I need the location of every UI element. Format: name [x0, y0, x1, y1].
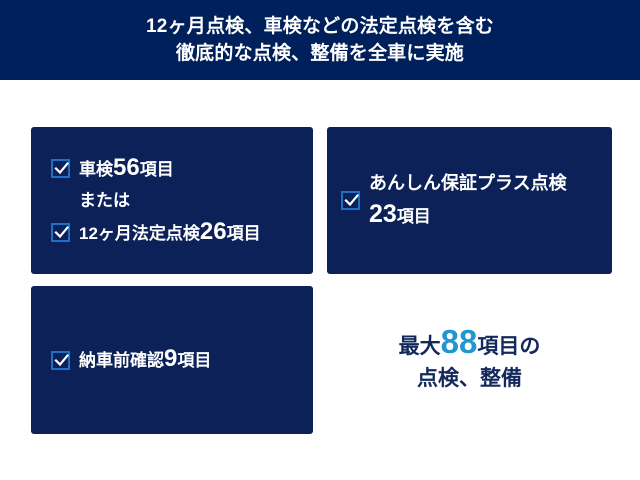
warranty-number: 23 [369, 200, 397, 228]
header-line-2: 徹底的な点検、整備を全車に実施 [176, 40, 464, 67]
card-inspection: 車検56項目 または 12ヶ月法定点検26項目 [31, 127, 313, 274]
header-line-1: 12ヶ月点検、車検などの法定点検を含む [146, 13, 494, 40]
inspection-line-1-suffix: 項目 [140, 160, 174, 179]
inspection-line-2: または [51, 185, 313, 217]
inspection-line-1-number: 56 [113, 154, 140, 181]
checkbox-checked-icon [51, 223, 70, 242]
inspection-line-3-prefix: 12ヶ月法定点検 [79, 224, 200, 243]
card-inspection-content: 車検56項目 または 12ヶ月法定点検26項目 [31, 127, 313, 274]
summary-mid: 項目 [477, 335, 519, 358]
checkbox-checked-icon [51, 351, 70, 370]
predelivery-line-1: 納車前確認9項目 [51, 344, 313, 376]
summary-tail: の [519, 335, 540, 358]
warranty-suffix: 項目 [397, 207, 431, 226]
summary-accent-number: 88 [441, 323, 478, 360]
card-warranty: あんしん保証プラス点検 23項目 [327, 127, 612, 274]
header-band: 12ヶ月点検、車検などの法定点検を含む 徹底的な点検、整備を全車に実施 [0, 0, 640, 80]
inspection-line-1: 車検56項目 [51, 153, 313, 185]
inspection-line-3-suffix: 項目 [227, 224, 261, 243]
inspection-line-2-text: または [79, 190, 130, 212]
summary-line-2: 点検、整備 [417, 363, 522, 395]
warranty-line-2: 23項目 [369, 198, 567, 233]
summary-prefix: 最大 [399, 335, 441, 358]
card-warranty-content: あんしん保証プラス点検 23項目 [327, 127, 612, 274]
predelivery-suffix: 項目 [177, 351, 211, 370]
inspection-line-3-number: 26 [200, 218, 227, 245]
checkbox-checked-icon [51, 159, 70, 178]
inspection-line-1-prefix: 車検 [79, 160, 113, 179]
predelivery-line-1-text: 納車前確認9項目 [79, 348, 211, 372]
warranty-lines: あんしん保証プラス点検 23項目 [369, 168, 567, 233]
summary-block: 最大88項目の 点検、整備 [327, 286, 612, 434]
warranty-line-1: あんしん保証プラス点検 [369, 168, 567, 198]
predelivery-number: 9 [164, 345, 177, 372]
card-predelivery-content: 納車前確認9項目 [31, 286, 313, 434]
inspection-line-3-text: 12ヶ月法定点検26項目 [79, 221, 261, 245]
inspection-line-1-text: 車検56項目 [79, 157, 174, 181]
inspection-line-3: 12ヶ月法定点検26項目 [51, 217, 313, 249]
summary-line-1: 最大88項目の [399, 326, 541, 363]
card-predelivery: 納車前確認9項目 [31, 286, 313, 434]
inspection-summary-page: 12ヶ月点検、車検などの法定点検を含む 徹底的な点検、整備を全車に実施 車検56… [0, 0, 640, 480]
predelivery-prefix: 納車前確認 [79, 351, 164, 370]
checkbox-checked-icon [341, 191, 360, 210]
